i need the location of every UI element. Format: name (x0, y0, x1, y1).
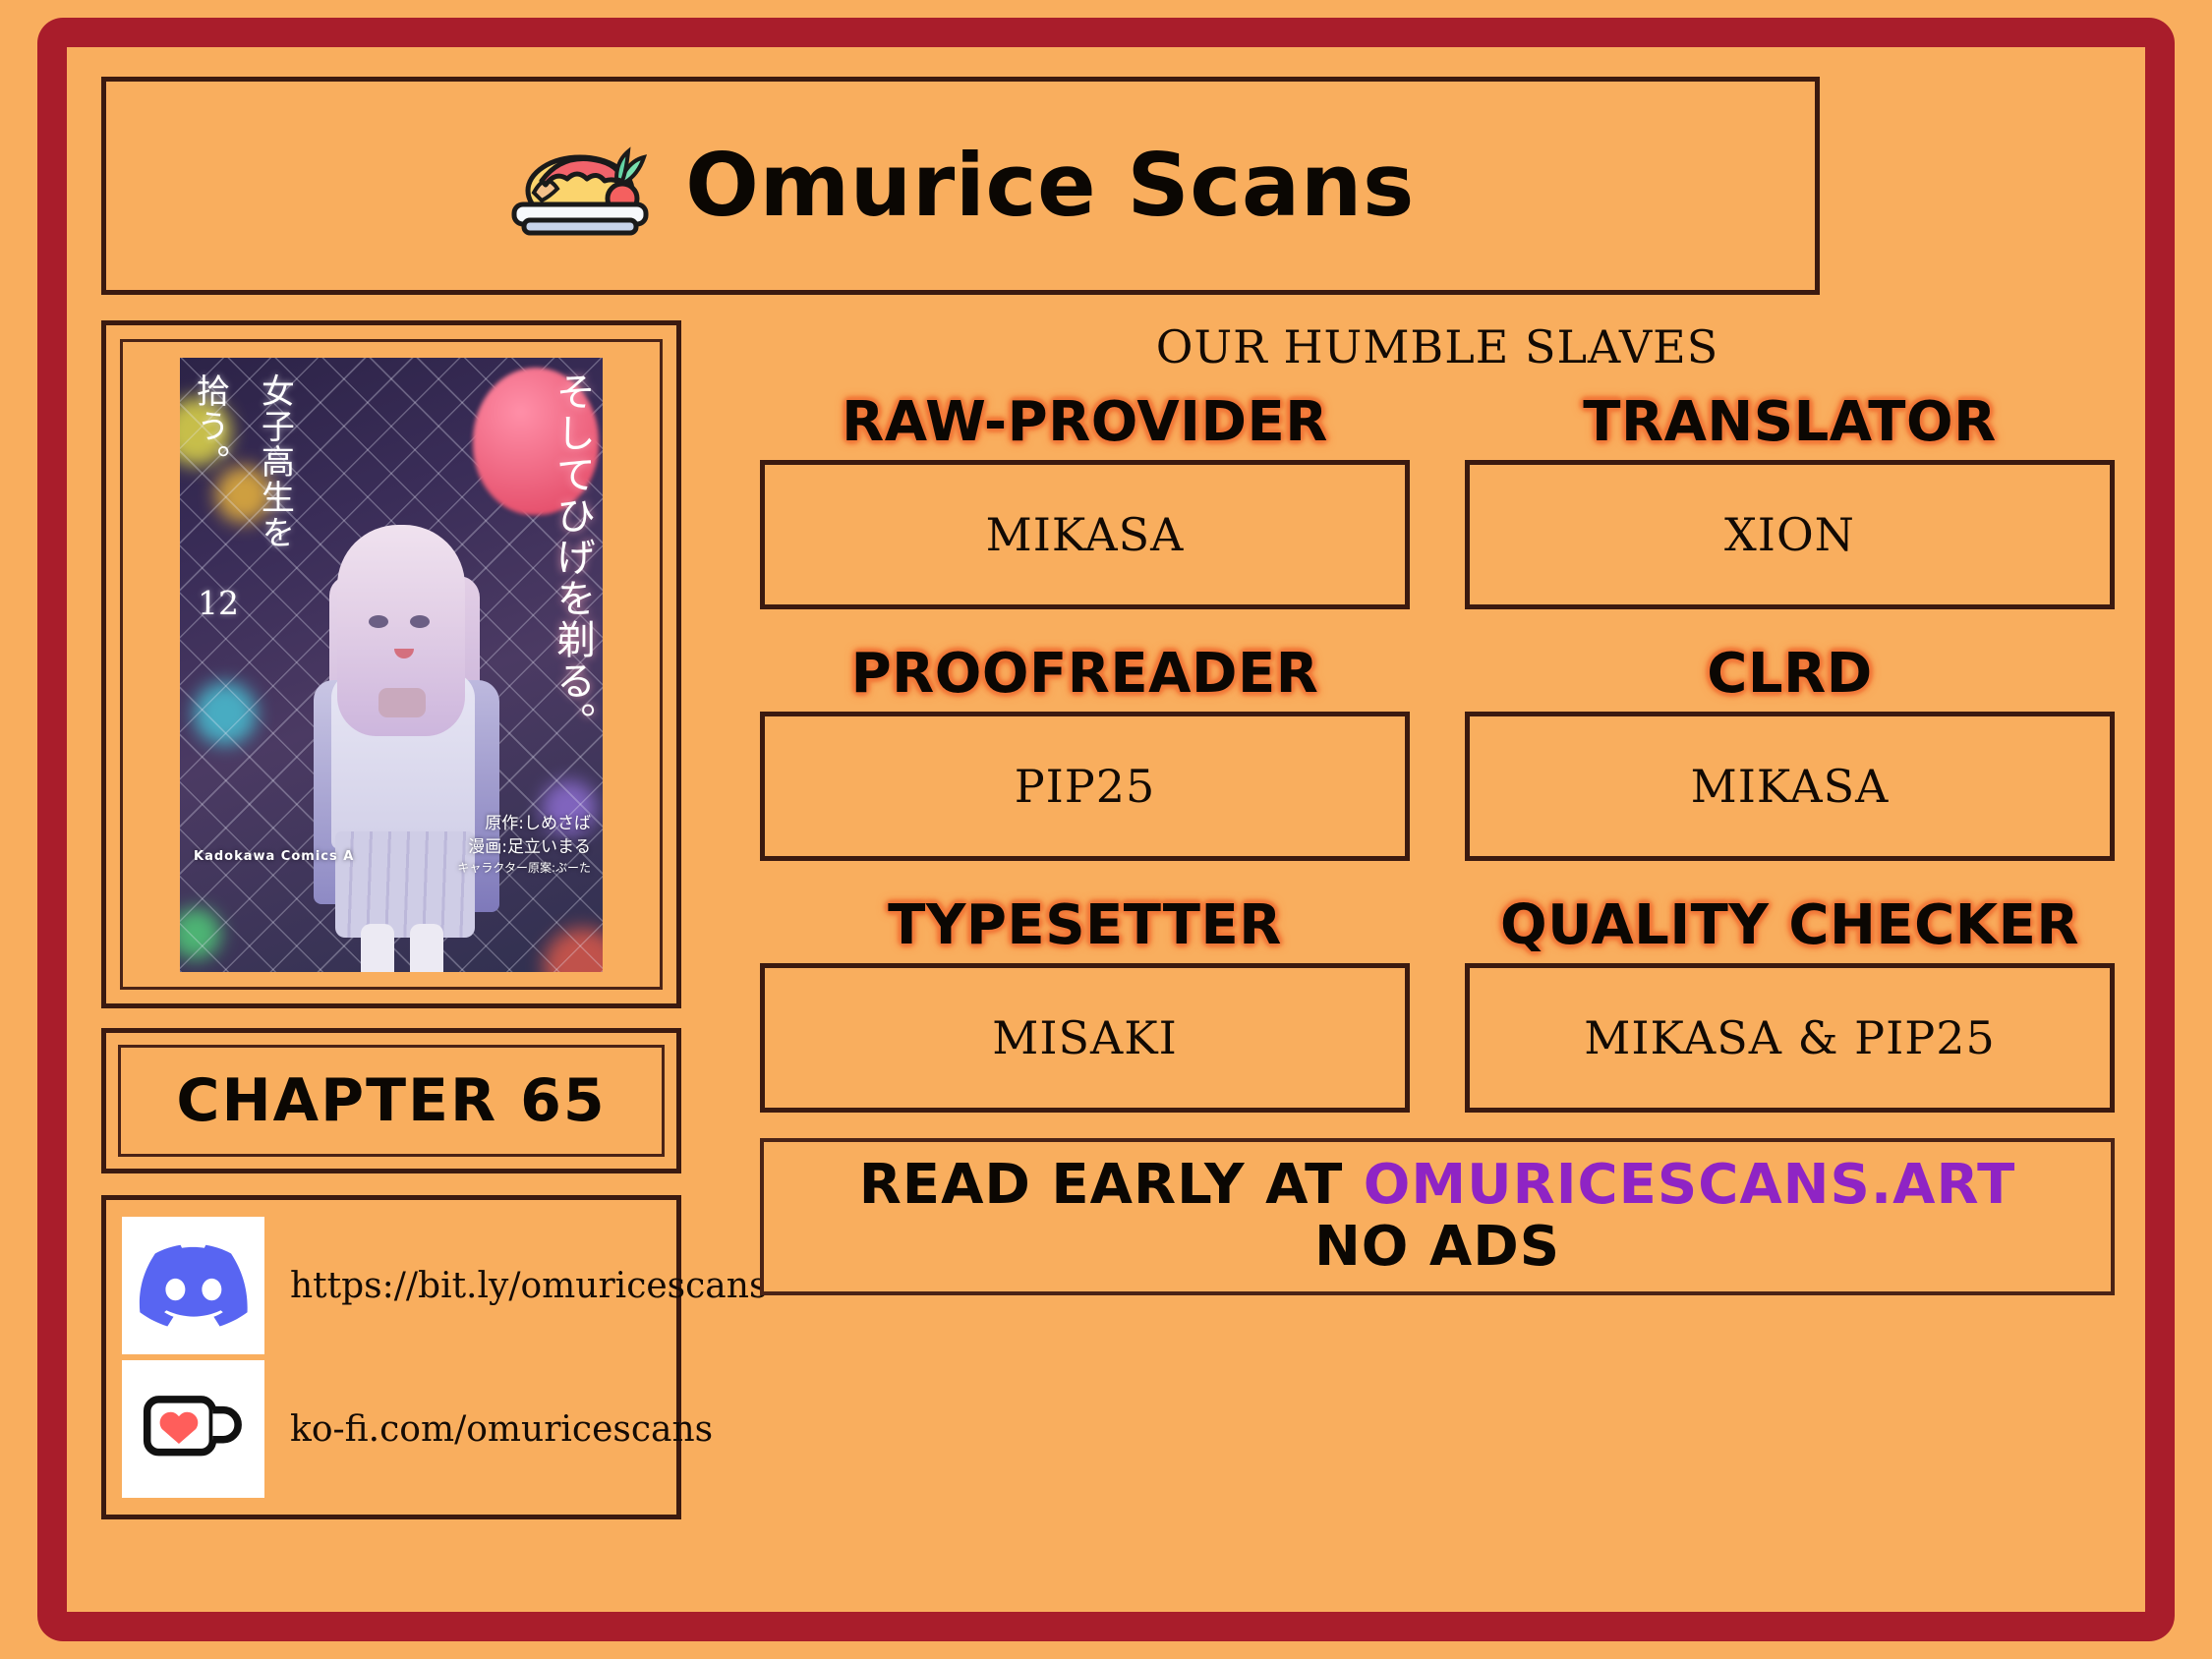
cover-credit-character: キャラクター原案:ぶーた (457, 860, 591, 877)
credits-subtitle: OUR HUMBLE SLAVES (760, 320, 2115, 373)
cover-volume-number: 12 (198, 584, 239, 622)
chapter-box: CHAPTER 65 (101, 1028, 681, 1173)
credit-cell-raw-provider: RAW-PROVIDER MIKASA (760, 395, 1410, 609)
cover-publisher: Kadokawa Comics A (194, 849, 354, 864)
credit-value-box: MIKASA (760, 460, 1410, 609)
read-early-line: READ EARLY AT OMURICESCANS.ART (859, 1155, 2016, 1217)
read-early-prefix: READ EARLY AT (859, 1153, 1364, 1217)
cover-title-right: そしてひげを剃る。 (552, 372, 593, 743)
discord-icon (122, 1217, 264, 1354)
credit-cell-proofreader: PROOFREADER PIP25 (760, 647, 1410, 861)
site-title: Omurice Scans (685, 143, 1415, 229)
site-header: Omurice Scans (101, 77, 1820, 295)
credits-grid: RAW-PROVIDER MIKASA TRANSLATOR XION PROO… (760, 395, 2115, 1113)
kofi-url[interactable]: ko-fi.com/omuricescans (290, 1409, 713, 1450)
cover-title-left: 拾う。 (192, 373, 226, 480)
cover-credit-artist: 漫画:足立いまる (457, 835, 591, 860)
credit-value-box: PIP25 (760, 712, 1410, 861)
cover-credit-author: 原作:しめさば (457, 812, 591, 836)
credits-page: Omurice Scans 拾う。 女子高生を (0, 0, 2212, 1659)
credit-cell-clrd: CLRD MIKASA (1465, 647, 2115, 861)
credit-cell-quality-checker: QUALITY CHECKER MIKASA & PIP25 (1465, 898, 2115, 1113)
credit-value-box: XION (1465, 460, 2115, 609)
credit-role-label: PROOFREADER (851, 647, 1319, 702)
cover-title-middle: 女子高生を (257, 373, 291, 550)
credit-role-label: TYPESETTER (888, 898, 1282, 953)
kofi-link-row[interactable]: ko-fi.com/omuricescans (106, 1360, 676, 1498)
social-links-box: https://bit.ly/omuricescans ko-fi.com/om… (101, 1195, 681, 1519)
credit-value-box: MIKASA & PIP25 (1465, 963, 2115, 1113)
content-area: Omurice Scans 拾う。 女子高生を (101, 77, 2111, 1582)
credit-name: MISAKI (992, 1011, 1178, 1064)
cover-character-illustration (296, 525, 507, 972)
credit-name: PIP25 (1015, 760, 1156, 813)
chapter-label: CHAPTER 65 (176, 1066, 606, 1135)
right-column: OUR HUMBLE SLAVES RAW-PROVIDER MIKASA TR… (760, 320, 2115, 1295)
credit-role-label: RAW-PROVIDER (842, 395, 1328, 450)
credit-name: XION (1724, 508, 1855, 561)
credit-name: MIKASA & PIP25 (1584, 1011, 1996, 1064)
discord-link-row[interactable]: https://bit.ly/omuricescans (106, 1217, 676, 1354)
cover-credits: 原作:しめさば 漫画:足立いまる キャラクター原案:ぶーた (457, 812, 591, 878)
cover-inner-border: 拾う。 女子高生を 12 そしてひげを剃る。 (120, 339, 663, 990)
credit-value-box: MIKASA (1465, 712, 2115, 861)
left-column: 拾う。 女子高生を 12 そしてひげを剃る。 (101, 320, 681, 1519)
chapter-inner-border: CHAPTER 65 (118, 1045, 665, 1157)
manga-cover-art: 拾う。 女子高生を 12 そしてひげを剃る。 (180, 358, 603, 972)
omurice-plate-icon (506, 132, 654, 240)
no-ads-line: NO ADS (1314, 1217, 1560, 1279)
credit-role-label: QUALITY CHECKER (1500, 898, 2079, 953)
read-early-site-url[interactable]: OMURICESCANS.ART (1364, 1153, 2016, 1217)
cover-frame: 拾う。 女子高生を 12 そしてひげを剃る。 (101, 320, 681, 1008)
credit-cell-typesetter: TYPESETTER MISAKI (760, 898, 1410, 1113)
credit-name: MIKASA (1691, 760, 1890, 813)
discord-url[interactable]: https://bit.ly/omuricescans (290, 1266, 767, 1306)
credit-role-label: CLRD (1707, 647, 1872, 702)
credit-cell-translator: TRANSLATOR XION (1465, 395, 2115, 609)
credit-name: MIKASA (986, 508, 1185, 561)
read-early-banner[interactable]: READ EARLY AT OMURICESCANS.ART NO ADS (760, 1138, 2115, 1295)
credit-role-label: TRANSLATOR (1583, 395, 1996, 450)
credit-value-box: MISAKI (760, 963, 1410, 1113)
kofi-icon (122, 1360, 264, 1498)
